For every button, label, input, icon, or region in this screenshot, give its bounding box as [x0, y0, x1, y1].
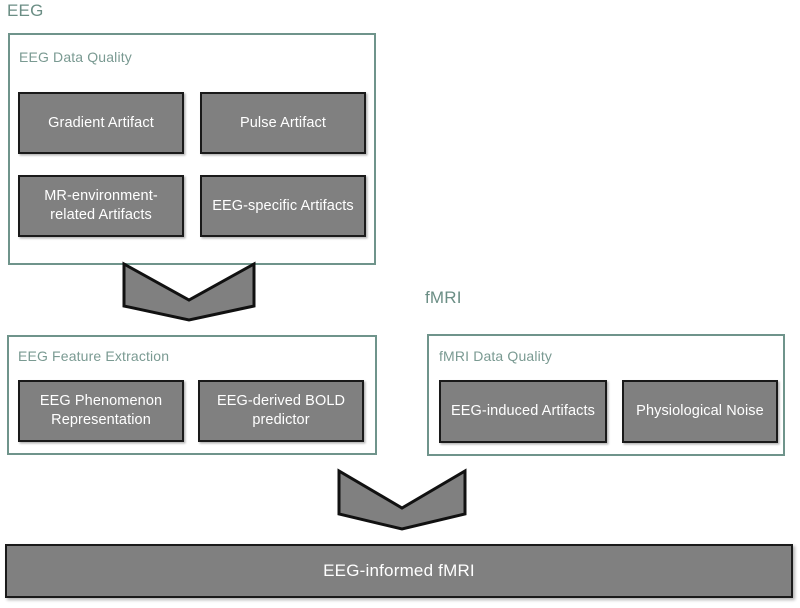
item-label-eeg-induced-artifacts: EEG-induced Artifacts: [447, 402, 599, 421]
item-label-eeg-phenomenon-representation: EEG Phenomenon Representation: [26, 392, 176, 430]
item-label-eeg-derived-bold-predictor: EEG-derived BOLD predictor: [206, 392, 356, 430]
item-physiological-noise[interactable]: Physiological Noise: [622, 380, 778, 443]
item-label-pulse-artifact: Pulse Artifact: [208, 114, 358, 133]
item-label-gradient-artifact: Gradient Artifact: [26, 114, 176, 133]
group-title-eeg: EEG: [7, 1, 44, 21]
group-title-fmri: fMRI: [425, 288, 462, 308]
item-label-mr-environment-related-artifacts: MR-environment-related Artifacts: [26, 187, 176, 225]
container-label-eeg-feature-extraction: EEG Feature Extraction: [18, 348, 169, 365]
item-gradient-artifact[interactable]: Gradient Artifact: [18, 92, 184, 154]
container-label-fmri-data-quality: fMRI Data Quality: [439, 348, 552, 365]
arrow-eeg-quality-to-feature-extraction-icon: [122, 262, 256, 322]
container-fmri-data-quality: fMRI Data Quality EEG-induced Artifacts …: [427, 334, 785, 456]
container-eeg-data-quality: EEG Data Quality Gradient Artifact Pulse…: [8, 33, 376, 265]
arrow-to-eeg-informed-fmri-icon: [337, 469, 467, 531]
container-label-eeg-data-quality: EEG Data Quality: [19, 49, 132, 66]
item-label-eeg-specific-artifacts: EEG-specific Artifacts: [208, 197, 358, 216]
item-eeg-induced-artifacts[interactable]: EEG-induced Artifacts: [439, 380, 607, 443]
item-eeg-derived-bold-predictor[interactable]: EEG-derived BOLD predictor: [198, 380, 364, 442]
item-label-physiological-noise: Physiological Noise: [630, 402, 770, 421]
container-eeg-feature-extraction: EEG Feature Extraction EEG Phenomenon Re…: [7, 335, 377, 455]
item-eeg-specific-artifacts[interactable]: EEG-specific Artifacts: [200, 175, 366, 237]
item-pulse-artifact[interactable]: Pulse Artifact: [200, 92, 366, 154]
summary-bar-label: EEG-informed fMRI: [323, 561, 475, 581]
item-eeg-phenomenon-representation[interactable]: EEG Phenomenon Representation: [18, 380, 184, 442]
item-mr-environment-related-artifacts[interactable]: MR-environment-related Artifacts: [18, 175, 184, 237]
summary-bar-eeg-informed-fmri[interactable]: EEG-informed fMRI: [5, 544, 793, 598]
diagram-canvas: EEG fMRI EEG Data Quality Gradient Artif…: [0, 0, 800, 608]
